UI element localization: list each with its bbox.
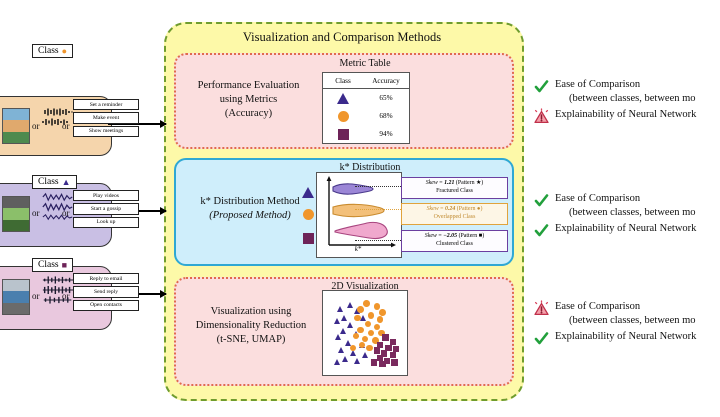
image-thumbnail-1 <box>2 108 30 144</box>
annotation-row: Explainability of Neural Network <box>534 330 720 346</box>
waveform-icon <box>40 276 76 284</box>
skew-annotation-2: Skew = 0.24 (Pattern ●) Overlapped Class <box>401 203 508 225</box>
method-label-line: (Accuracy) <box>176 107 321 121</box>
check-icon <box>534 193 549 208</box>
action-button[interactable]: Set a reminder <box>73 99 139 110</box>
waveform-icon <box>40 118 74 126</box>
annotation-text: Explainability of Neural Network <box>555 222 696 236</box>
waveform-icon <box>40 203 76 211</box>
method-label-line: (t-SNE, UMAP) <box>176 333 326 347</box>
action-button[interactable]: Open contacts <box>73 300 139 311</box>
annotation-text: Explainability of Neural Network <box>555 330 696 344</box>
waveform-icon <box>40 213 76 221</box>
circle-marker <box>368 312 375 319</box>
skew-label: Skew <box>425 233 437 239</box>
method-label-line: using Metrics <box>176 93 321 107</box>
waveform-icon <box>40 286 76 294</box>
method-label-metrics: Performance Evaluation using Metrics (Ac… <box>176 79 321 122</box>
class-tag-label-1: Class <box>38 46 59 56</box>
square-marker <box>391 359 397 365</box>
annotation-line2: (between classes, between mo <box>555 92 696 106</box>
circle-marker <box>357 306 364 313</box>
or-label-2a: or <box>32 208 40 218</box>
accuracy-value: 94% <box>363 130 409 138</box>
triangle-marker <box>341 315 347 321</box>
action-button[interactable]: Start a gossip <box>73 203 139 214</box>
triangle-marker <box>354 358 360 364</box>
accuracy-value: 68% <box>363 112 409 120</box>
warning-icon <box>534 109 549 124</box>
annotation-line1: Ease of Comparison <box>555 301 640 312</box>
action-buttons-1: Set a reminder Make event Show meetings <box>73 99 139 137</box>
action-button[interactable]: Make event <box>73 112 139 123</box>
or-label-3a: or <box>32 291 40 301</box>
skew-line: Skew = 0.24 (Pattern ●) <box>403 206 506 214</box>
annotation-group-2: Ease of Comparison (between classes, bet… <box>534 192 720 241</box>
square-marker <box>323 129 363 140</box>
action-button[interactable]: Look up <box>73 217 139 228</box>
metric-table-title: Metric Table <box>305 58 425 69</box>
circle-marker <box>377 316 384 323</box>
accuracy-value: 65% <box>363 94 409 102</box>
square-marker <box>379 361 385 367</box>
annotation-text: Ease of Comparison (between classes, bet… <box>555 300 696 327</box>
annotation-row: Ease of Comparison (between classes, bet… <box>534 300 720 327</box>
circle-marker <box>323 111 363 122</box>
triangle-marker <box>335 334 341 340</box>
annotation-text: Explainability of Neural Network <box>555 108 696 122</box>
annotation-row: Ease of Comparison (between classes, bet… <box>534 192 720 219</box>
triangle-marker <box>347 322 353 328</box>
annotation-line2: (between classes, between mo <box>555 206 696 220</box>
annotation-group-1: Ease of Comparison (between classes, bet… <box>534 78 720 127</box>
circle-marker <box>363 300 370 307</box>
annotation-group-3: Ease of Comparison (between classes, bet… <box>534 300 720 349</box>
annotation-text: Ease of Comparison (between classes, bet… <box>555 78 696 105</box>
circle-marker <box>365 321 372 328</box>
waveform-icon <box>40 296 76 304</box>
class-tag-label-3: Class <box>38 260 59 270</box>
triangle-marker <box>334 318 340 324</box>
method-label-line: Visualization using <box>176 305 326 319</box>
triangle-marker: ▲ <box>62 178 71 187</box>
annotation-row: Explainability of Neural Network <box>534 108 720 124</box>
annotation-text: Ease of Comparison (between classes, bet… <box>555 192 696 219</box>
circle-marker: ● <box>62 47 67 56</box>
image-thumbnail-2 <box>2 196 30 232</box>
action-button[interactable]: Show meetings <box>73 126 139 137</box>
method-label-2dvis: Visualization using Dimensionality Reduc… <box>176 305 326 348</box>
annotation-line1: Explainability of Neural Network <box>555 223 696 234</box>
square-marker: ■ <box>62 261 67 270</box>
leader-line-1 <box>355 186 401 187</box>
circle-marker <box>353 333 360 340</box>
annotation-row: Explainability of Neural Network <box>534 222 720 238</box>
circle-marker <box>374 303 381 310</box>
table-row: 94% <box>323 125 409 143</box>
circle-marker <box>368 330 375 337</box>
square-marker <box>382 334 388 340</box>
class-tag-label-2: Class <box>38 177 59 187</box>
annotation-row: Ease of Comparison (between classes, bet… <box>534 78 720 105</box>
check-icon <box>534 223 549 238</box>
action-button[interactable]: Play videos <box>73 190 139 201</box>
triangle-marker <box>362 352 368 358</box>
leader-line-3 <box>355 240 401 241</box>
skew-value: 1.21 <box>444 180 454 186</box>
figure-main-title: Visualization and Comparison Methods <box>164 30 520 45</box>
annotation-line1: Ease of Comparison <box>555 79 640 90</box>
circle-marker <box>357 327 364 334</box>
skew-annotation-1: Skew = 1.21 (Pattern ★) Fractured Class <box>401 177 508 199</box>
triangle-marker <box>302 186 314 198</box>
audio-waveform-1 <box>40 108 74 126</box>
triangle-marker <box>323 93 363 104</box>
skew-pattern: (Pattern ●) <box>457 206 483 212</box>
triangle-marker <box>350 350 356 356</box>
audio-waveform-2 <box>40 193 76 221</box>
skew-pattern: (Pattern ■) <box>459 233 485 239</box>
action-button[interactable]: Reply to email <box>73 273 139 284</box>
circle-marker <box>366 345 373 352</box>
metric-table-header: Class Accuracy <box>323 73 409 89</box>
square-marker <box>371 359 377 365</box>
skew-class-name: Fractured Class <box>403 188 506 196</box>
skew-class-name: Clustered Class <box>403 241 506 249</box>
square-marker <box>374 347 380 353</box>
or-label-1a: or <box>32 121 40 131</box>
action-buttons-3: Reply to email Send reply Open contacts <box>73 273 139 311</box>
annotation-line2: (between classes, between mo <box>555 314 696 328</box>
scatter-plot <box>322 290 408 376</box>
method-label-line: Dimensionality Reduction <box>176 319 326 333</box>
square-marker <box>390 352 396 358</box>
triangle-marker <box>360 315 366 321</box>
skew-class-name: Overlapped Class <box>403 214 506 222</box>
circle-marker <box>379 309 386 316</box>
check-icon <box>534 79 549 94</box>
table-row: 65% <box>323 89 409 107</box>
skew-value: −2.05 <box>443 233 457 239</box>
skew-label: Skew <box>427 206 439 212</box>
check-icon <box>534 331 549 346</box>
triangle-marker <box>347 302 353 308</box>
circle-marker <box>302 208 314 220</box>
metric-header-class: Class <box>323 77 363 85</box>
triangle-marker <box>342 356 348 362</box>
class-tag-2: Class ▲ <box>32 175 77 189</box>
skew-line: Skew = −2.05 (Pattern ■) <box>403 233 506 241</box>
method-label-line: Performance Evaluation <box>176 79 321 93</box>
triangle-marker <box>334 359 340 365</box>
skew-pattern: (Pattern ★) <box>456 180 483 186</box>
warning-icon <box>534 301 549 316</box>
action-button[interactable]: Send reply <box>73 286 139 297</box>
annotation-line1: Explainability of Neural Network <box>555 109 696 120</box>
skew-value: 0.24 <box>445 206 455 212</box>
skew-annotation-3: Skew = −2.05 (Pattern ■) Clustered Class <box>401 230 508 252</box>
audio-waveform-3 <box>40 276 76 304</box>
annotation-line1: Ease of Comparison <box>555 193 640 204</box>
kstar-x-axis-label: k* <box>316 245 400 253</box>
table-row: 68% <box>323 107 409 125</box>
leader-line-2 <box>355 209 401 210</box>
action-buttons-2: Play videos Start a gossip Look up <box>73 190 139 228</box>
figure-canvas: Class ● Class ▲ Class ■ or or or or or o… <box>0 0 720 417</box>
square-marker <box>302 232 314 244</box>
metric-header-accuracy: Accuracy <box>363 77 409 85</box>
annotation-line1: Explainability of Neural Network <box>555 331 696 342</box>
waveform-icon <box>40 193 76 201</box>
triangle-marker <box>337 306 343 312</box>
skew-label: Skew <box>426 180 438 186</box>
waveform-icon <box>40 108 74 116</box>
image-thumbnail-3 <box>2 279 30 315</box>
skew-line: Skew = 1.21 (Pattern ★) <box>403 180 506 188</box>
class-tag-1: Class ● <box>32 44 73 58</box>
triangle-marker <box>338 347 344 353</box>
metric-table: Class Accuracy 65% 68% 94% <box>322 72 410 144</box>
class-tag-3: Class ■ <box>32 258 73 272</box>
